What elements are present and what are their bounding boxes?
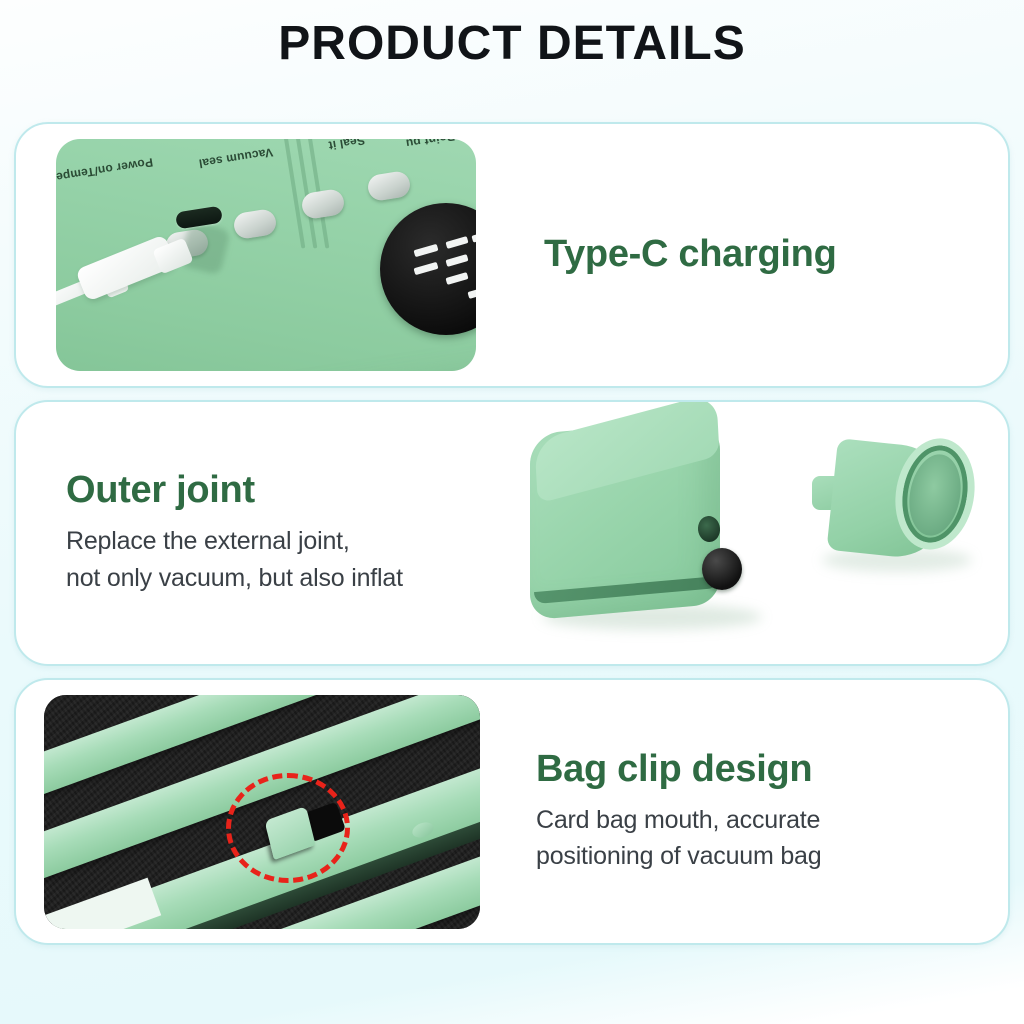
feature-description-line: Card bag mouth, accurate [536, 802, 1008, 838]
feature-description-line: positioning of vacuum bag [536, 838, 1008, 874]
page-background: PRODUCT DETAILS Power on/Temperature Vac… [0, 0, 1024, 1024]
feature-headline-bag-clip-design: Bag clip design [536, 749, 1008, 790]
red-dashed-circle-highlight-icon [226, 773, 350, 883]
page-title-container: PRODUCT DETAILS [0, 16, 1024, 71]
feature-card-bag-clip-design: Bag clip design Card bag mouth, accurate… [14, 678, 1010, 945]
page-title: PRODUCT DETAILS [278, 16, 745, 71]
feature-description-bag-clip-design: Card bag mouth, accurate positioning of … [536, 802, 1008, 875]
product-image-outer-joint [512, 408, 982, 660]
black-knob-icon [702, 548, 742, 590]
feature-copy-bag-clip-design: Bag clip design Card bag mouth, accurate… [480, 749, 1008, 875]
product-image-bag-clip-design [44, 695, 480, 929]
feature-card-type-c-charging: Power on/Temperature Vacuum seal Seal it… [14, 122, 1010, 388]
feature-copy-type-c-charging: Type-C charging [476, 234, 1008, 275]
feature-headline-type-c-charging: Type-C charging [544, 234, 1008, 275]
feature-card-outer-joint: Outer joint Replace the external joint, … [14, 400, 1010, 666]
product-image-type-c-charging: Power on/Temperature Vacuum seal Seal it… [56, 139, 476, 371]
